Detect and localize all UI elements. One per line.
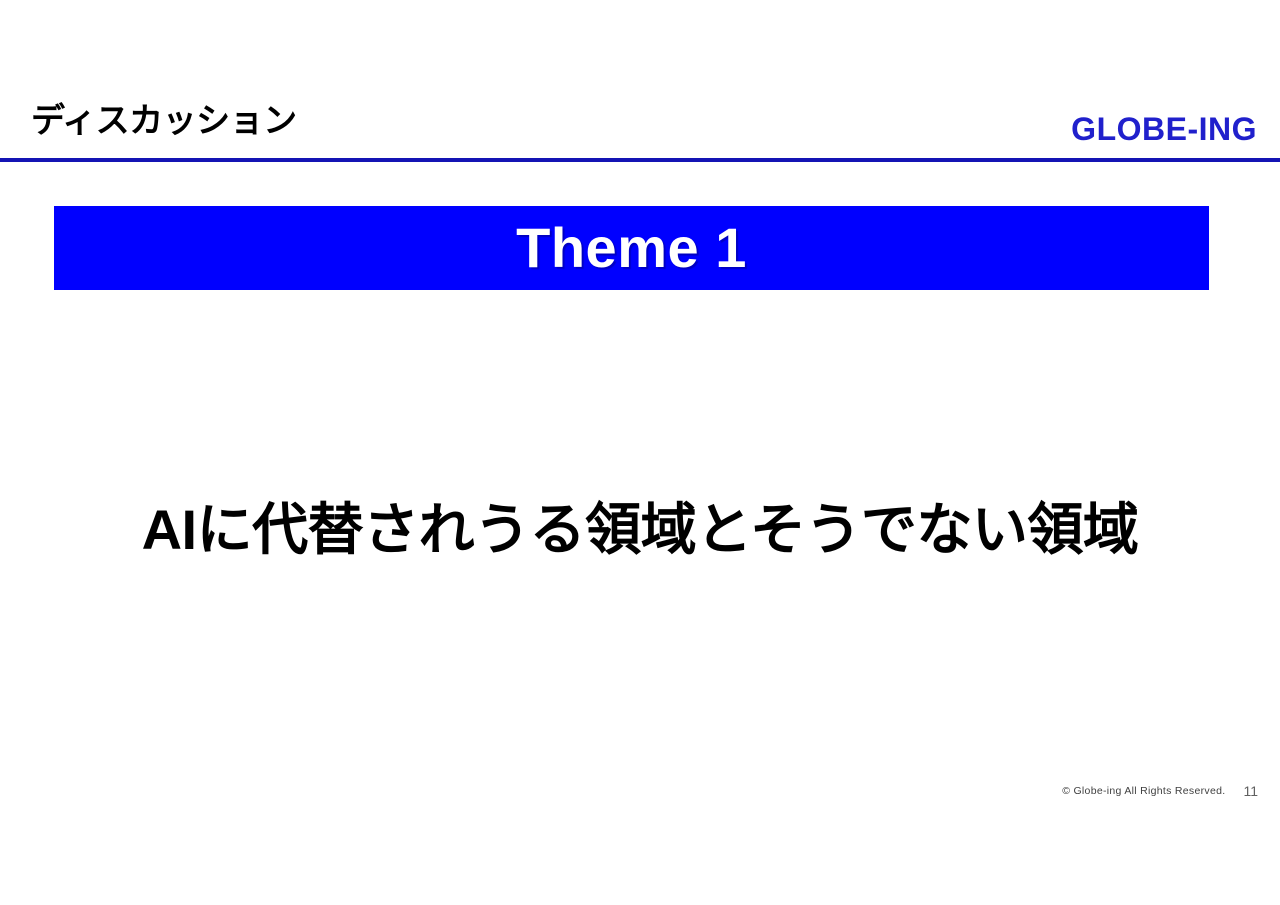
slide-footer: © Globe-ing All Rights Reserved. 11 bbox=[0, 780, 1280, 802]
copyright-notice: © Globe-ing All Rights Reserved. bbox=[1062, 786, 1225, 797]
presentation-slide: ディスカッション GLOBE-ING Theme 1 AIに代替されうる領域とそ… bbox=[0, 0, 1280, 905]
globe-ing-logo: GLOBE-ING bbox=[1071, 113, 1257, 145]
theme-banner: Theme 1 bbox=[54, 206, 1209, 290]
page-title: ディスカッション bbox=[31, 104, 297, 138]
body-headline: AIに代替されうる領域とそうでない領域 bbox=[142, 498, 1139, 562]
page-number: 11 bbox=[1243, 784, 1258, 798]
header-divider bbox=[0, 158, 1280, 162]
theme-banner-label: Theme 1 bbox=[516, 220, 747, 276]
slide-body: AIに代替されうる領域とそうでない領域 bbox=[0, 440, 1280, 620]
slide-header: ディスカッション GLOBE-ING bbox=[0, 0, 1280, 163]
